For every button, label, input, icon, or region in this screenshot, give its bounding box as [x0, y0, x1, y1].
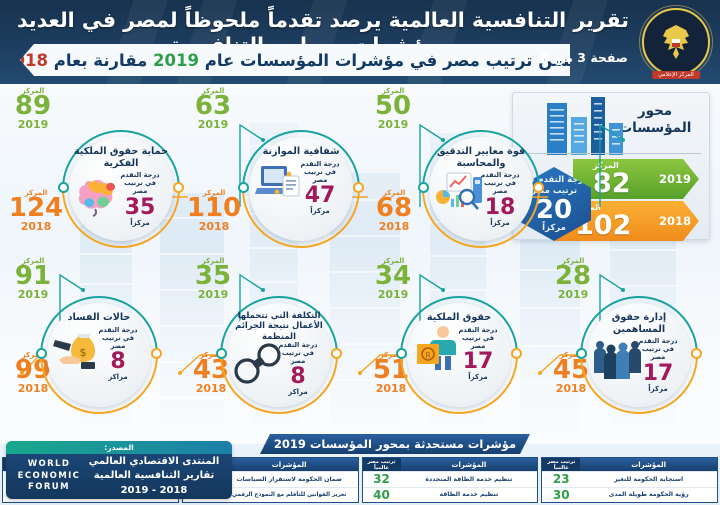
node-title: إدارة حقوق المساهمين — [591, 312, 687, 335]
eagle-emblem-icon — [642, 8, 710, 76]
rank-value: 35 — [182, 265, 244, 289]
rank-value: 91 — [2, 265, 64, 289]
subtitle-ribbon: تحسن ترتيب مصر في مؤشرات المؤسسات عام 20… — [20, 44, 570, 76]
emblem-band-label: المركز الإعلامي — [652, 71, 700, 79]
subtitle-part-a: تحسن ترتيب مصر في مؤشرات المؤسسات عام — [205, 51, 588, 70]
column-header-indicator: المؤشرات — [221, 461, 358, 469]
node-2-rank-2018: المركز 68 2018 — [358, 190, 430, 232]
indicator-value: 23 — [542, 472, 580, 486]
node-1-rank-2019: المركز 63 2019 — [182, 88, 244, 130]
node-title: حماية حقوق الملكية الفكرية — [73, 146, 169, 169]
rank-year: 2019 — [362, 119, 424, 130]
indicator-node-audit-standards[interactable]: قوة معايير التدقيق والمحاسبة درجة التقدم… — [422, 130, 540, 248]
rank-value: 50 — [362, 95, 424, 119]
shareholders-people-icon — [593, 335, 643, 383]
source-line-2: تقارير التنافسية العالمية — [84, 469, 224, 484]
rank-value: 34 — [362, 265, 424, 289]
progress-unit: مراكز — [94, 373, 142, 381]
rank-year: 2018 — [358, 221, 430, 232]
wef-line-3: FORUM — [14, 482, 84, 493]
progress-unit: مركزاً — [116, 219, 164, 227]
node-3-rank-2019: المركز 91 2019 — [2, 258, 64, 300]
node-1-rank-2018: المركز 110 2018 — [178, 190, 250, 232]
column-header-rank: ترتيب مصر عالمياً — [363, 458, 401, 471]
source-header: المصدر: — [6, 441, 232, 454]
indicator-value: 30 — [542, 488, 580, 502]
indicator-name: استجابة الحكومة للتغير — [580, 476, 717, 483]
indicator-value: 40 — [363, 488, 401, 502]
wef-line-2: ECONOMIC — [14, 471, 84, 482]
bribe-money-bag-icon: $ — [53, 324, 103, 372]
highlight-rank-2019: المركز 82 2019 — [573, 159, 699, 199]
laptop-documents-icon — [255, 158, 305, 206]
progress-unit: مراكز — [274, 388, 322, 396]
page-header: تقرير التنافسية العالمية يرصد تقدماً ملح… — [0, 0, 720, 84]
table-row: استجابة الحكومة للتغير 23 — [542, 471, 717, 487]
node-title: التكلفة التي تتحملها الأعمال نتيجة الجرا… — [231, 310, 327, 341]
column-header-rank: ترتيب مصر عالمياً — [542, 458, 580, 471]
indicator-name: تنظيم خدمة الطاقة المتجددة — [401, 476, 538, 483]
subtitle-year-2019: 2019 — [153, 51, 199, 70]
table-header: المؤشرات ترتيب مصر عالمياً — [363, 458, 538, 471]
source-line-1: المنتدى الاقتصادي العالمي — [84, 455, 224, 470]
node-title: حالات الفساد — [51, 312, 147, 324]
svg-text:R: R — [425, 351, 431, 360]
node-2-rank-2019: المركز 50 2019 — [362, 88, 424, 130]
node-6-rank-2019: المركز 28 2019 — [542, 258, 604, 300]
rank-year: 2019 — [182, 119, 244, 130]
indicator-name: تنظيم خدمة الطاقة — [401, 491, 538, 498]
table-row: تنظيم خدمة الطاقة 40 — [363, 487, 538, 503]
handcuffs-icon — [233, 341, 283, 389]
table-row: رؤية الحكومة طويلة المدى 30 — [542, 487, 717, 503]
city-towers-icon — [543, 97, 627, 155]
rank-year: 2019 — [2, 119, 64, 130]
subtitle-year-2018: 2018 — [2, 51, 48, 70]
indicator-node-property-rights[interactable]: حقوق الملكية درجة التقدم في ترتيب مصر 17… — [400, 296, 518, 414]
source-line-3: 2018 - 2019 — [84, 484, 224, 499]
subtitle-part-b: مقارنة بعام — [54, 51, 148, 70]
indicator-name: تعزيز القوانين للتأقلم مع النموذج الرقمي — [221, 492, 358, 498]
bottom-banner: مؤشرات مستحدثة بمحور المؤسسات 2019 — [260, 434, 530, 454]
node-0-rank-2019: المركز 89 2019 — [2, 88, 64, 130]
bottom-banner-label: مؤشرات مستحدثة بمحور المؤسسات 2019 — [274, 437, 516, 451]
rank-value: 110 — [178, 197, 250, 221]
indicator-node-corruption-cases[interactable]: حالات الفساد درجة التقدم في ترتيب مصر 8 … — [40, 296, 158, 414]
table-row: تنظيم خدمة الطاقة المتجددة 32 — [363, 471, 538, 487]
wef-line-1: WORLD — [14, 459, 84, 470]
table-header: المؤشرات ترتيب مصر عالمياً — [542, 458, 717, 471]
source-header-label: المصدر: — [104, 443, 133, 452]
source-text: المنتدى الاقتصادي العالمي تقارير التنافس… — [84, 455, 224, 499]
rank-year: 2019 — [659, 172, 691, 186]
node-title: قوة معايير التدقيق والمحاسبة — [433, 146, 529, 169]
brain-icon — [75, 169, 125, 217]
infographic-root: تقرير التنافسية العالمية يرصد تقدماً ملح… — [0, 0, 720, 505]
column-header-indicator: المؤشرات — [401, 461, 538, 469]
highlight-card-institutions: محور المؤسسات المركز 82 — [512, 92, 710, 240]
rank-value: 68 — [358, 197, 430, 221]
rank-value: 28 — [542, 265, 604, 289]
source-panel: المصدر: المنتدى الاقتصادي العالمي تقارير… — [6, 441, 232, 499]
progress-unit: مركزاً — [296, 207, 344, 215]
world-economic-forum-logo: WORLD ECONOMIC FORUM — [14, 459, 84, 493]
progress-unit: مركزاً — [542, 223, 566, 233]
page-number: صفحة 3 من 8 — [541, 50, 628, 65]
node-title: حقوق الملكية — [411, 312, 507, 324]
rank-year: 2018 — [659, 214, 691, 228]
table-group: المؤشرات ترتيب مصر عالمياً تنظيم خدمة ال… — [362, 457, 539, 503]
table-group: المؤشرات ترتيب مصر عالمياً استجابة الحكو… — [541, 457, 718, 503]
progress-unit: مركزاً — [476, 219, 524, 227]
progress-unit: مركزاً — [634, 385, 682, 393]
node-5-rank-2019: المركز 34 2019 — [362, 258, 424, 300]
progress-value: 20 — [536, 197, 572, 223]
indicator-node-budget-transparency[interactable]: شفافية الموازنة درجة التقدم في ترتيب مصر… — [242, 130, 360, 248]
indicator-node-organized-crime-cost[interactable]: التكلفة التي تتحملها الأعمال نتيجة الجرا… — [220, 296, 338, 414]
node-4-rank-2019: المركز 35 2019 — [182, 258, 244, 300]
registered-trademark-box-icon: R — [413, 324, 463, 372]
rank-value: 89 — [2, 95, 64, 119]
indicator-node-shareholder-governance[interactable]: إدارة حقوق المساهمين درجة التقدم في ترتي… — [580, 296, 698, 414]
indicator-name: رؤية الحكومة طويلة المدى — [580, 491, 717, 498]
column-header-indicator: المؤشرات — [580, 461, 717, 469]
government-logo: المركز الإعلامي — [638, 3, 714, 81]
rank-value: 82 — [593, 170, 631, 197]
svg-text:$: $ — [80, 346, 87, 359]
rank-value: 63 — [182, 95, 244, 119]
indicator-value: 32 — [363, 472, 401, 486]
node-title: شفافية الموازنة — [253, 146, 349, 158]
rank-label: المركز — [593, 162, 619, 170]
progress-unit: مركزاً — [454, 373, 502, 381]
audit-charts-magnifier-icon — [435, 169, 485, 217]
indicator-node-ip-protection[interactable]: حماية حقوق الملكية الفكرية درجة التقدم ف… — [62, 130, 180, 248]
indicator-name: ضمان الحكومة لاستقرار السياسات — [221, 476, 358, 483]
